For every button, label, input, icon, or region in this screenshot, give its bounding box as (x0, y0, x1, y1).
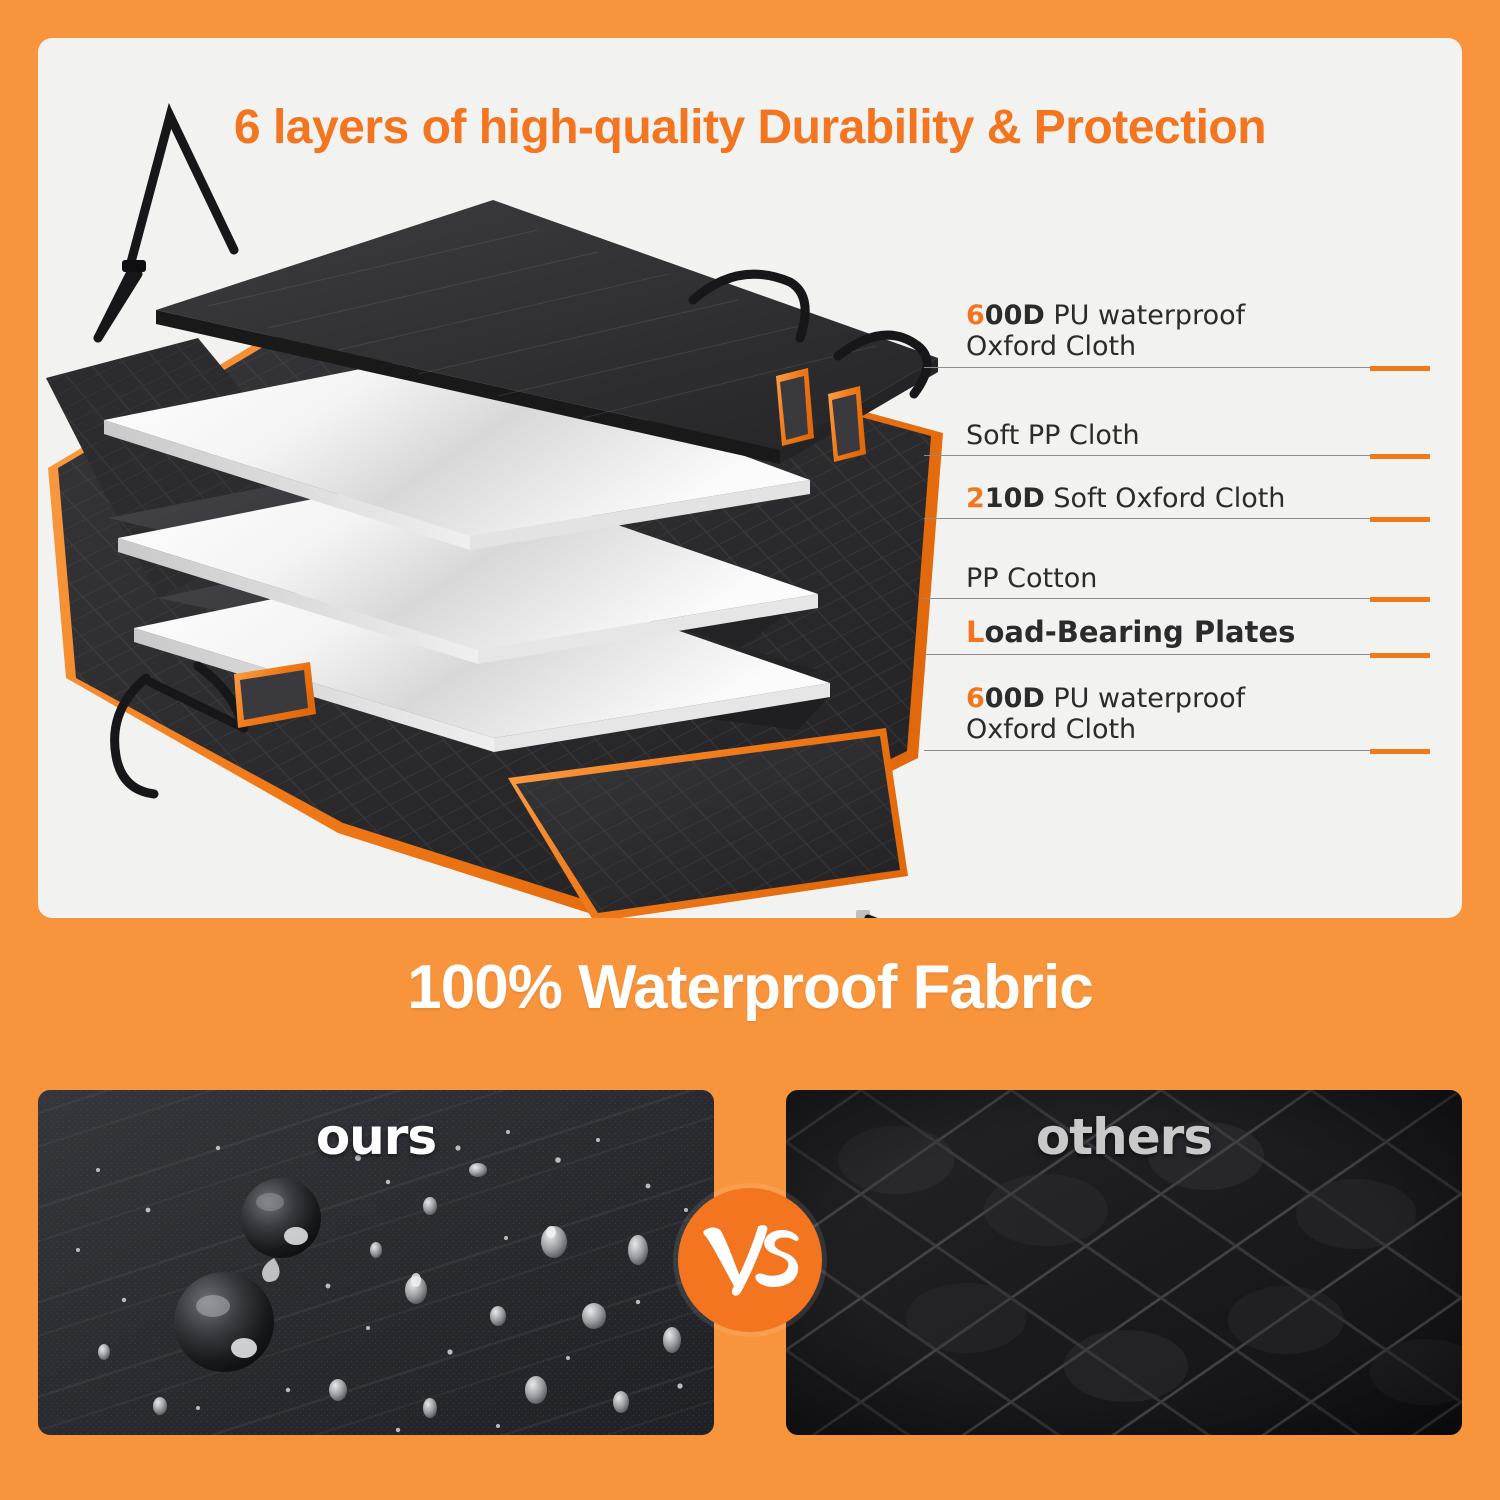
water-bead-2 (174, 1272, 274, 1372)
vs-brush-glyph (695, 1220, 805, 1300)
water-bead-1 (241, 1178, 321, 1258)
strap-buckle-top (122, 260, 146, 272)
vs-badge (678, 1188, 822, 1332)
comparison-panel-ours: ours (38, 1090, 714, 1435)
waterproof-headline: 100% Waterproof Fabric (0, 952, 1500, 1023)
zipper-pull (856, 910, 968, 918)
product-illustration (38, 38, 1462, 918)
label-ours: ours (38, 1108, 714, 1166)
label-others: others (786, 1108, 1462, 1166)
layers-panel: 6 layers of high-quality Durability & Pr… (38, 38, 1462, 918)
comparison-panel-others: others (786, 1090, 1462, 1435)
page-title: 6 layers of high-quality Durability & Pr… (38, 100, 1462, 155)
